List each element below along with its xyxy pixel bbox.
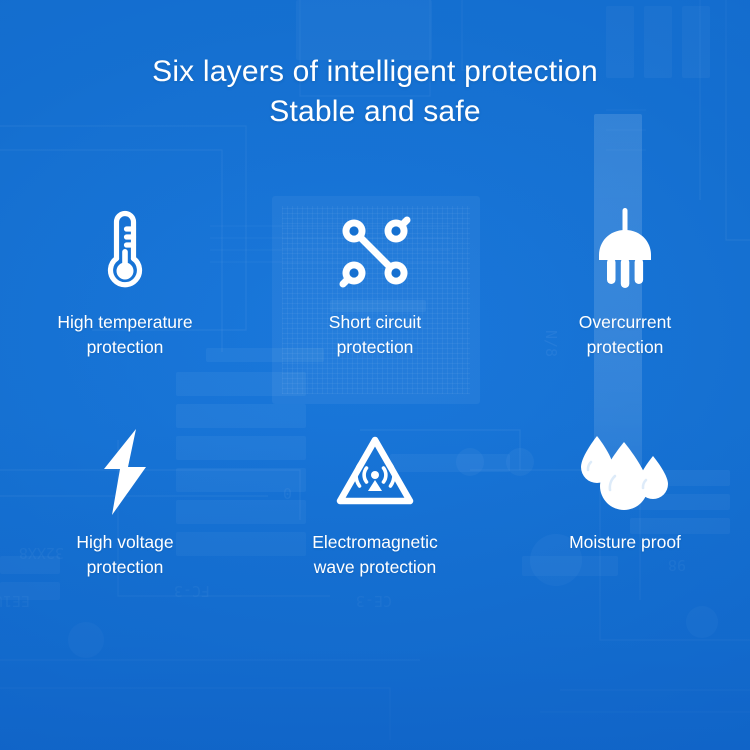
feature-high-temperature: High temperature protection xyxy=(0,206,250,360)
power-plug-icon xyxy=(589,206,661,298)
feature-label: High temperature protection xyxy=(18,310,233,360)
page-title: Six layers of intelligent protection Sta… xyxy=(0,52,750,132)
feature-grid: High temperature protection xyxy=(0,206,750,580)
feature-label-line-1: Overcurrent xyxy=(579,312,671,332)
feature-label: Short circuit protection xyxy=(268,310,483,360)
promo-banner: N/8 32XX8 FC-3 CE-3 EE1U 98 0 Six layers… xyxy=(0,0,750,750)
thermometer-icon xyxy=(97,206,153,298)
feature-label-line-2: wave protection xyxy=(314,557,437,577)
feature-label: High voltage protection xyxy=(18,530,233,580)
feature-label-line-1: High temperature xyxy=(57,312,192,332)
feature-electromagnetic-wave: Electromagnetic wave protection xyxy=(250,426,500,580)
feature-label-line-1: Moisture proof xyxy=(569,532,681,552)
feature-label-line-1: Short circuit xyxy=(329,312,421,332)
feature-label-line-2: protection xyxy=(87,337,164,357)
feature-label: Moisture proof xyxy=(518,530,733,555)
feature-row-bottom: High voltage protection xyxy=(0,426,750,580)
feature-high-voltage: High voltage protection xyxy=(0,426,250,580)
page-title-line-1: Six layers of intelligent protection xyxy=(152,55,598,88)
feature-short-circuit: Short circuit protection xyxy=(250,206,500,360)
short-circuit-icon xyxy=(335,206,415,298)
water-droplets-icon xyxy=(577,426,673,518)
feature-overcurrent: Overcurrent protection xyxy=(500,206,750,360)
page-title-line-2: Stable and safe xyxy=(0,92,750,132)
feature-row-top: High temperature protection xyxy=(0,206,750,360)
feature-label-line-2: protection xyxy=(587,337,664,357)
feature-label: Overcurrent protection xyxy=(518,310,733,360)
feature-label-line-2: protection xyxy=(87,557,164,577)
electromagnetic-wave-warning-icon xyxy=(335,426,415,518)
feature-label: Electromagnetic wave protection xyxy=(268,530,483,580)
feature-label-line-1: High voltage xyxy=(76,532,173,552)
lightning-bolt-icon xyxy=(96,426,154,518)
feature-label-line-1: Electromagnetic xyxy=(312,532,437,552)
feature-label-line-2: protection xyxy=(337,337,414,357)
feature-moisture-proof: Moisture proof xyxy=(500,426,750,580)
